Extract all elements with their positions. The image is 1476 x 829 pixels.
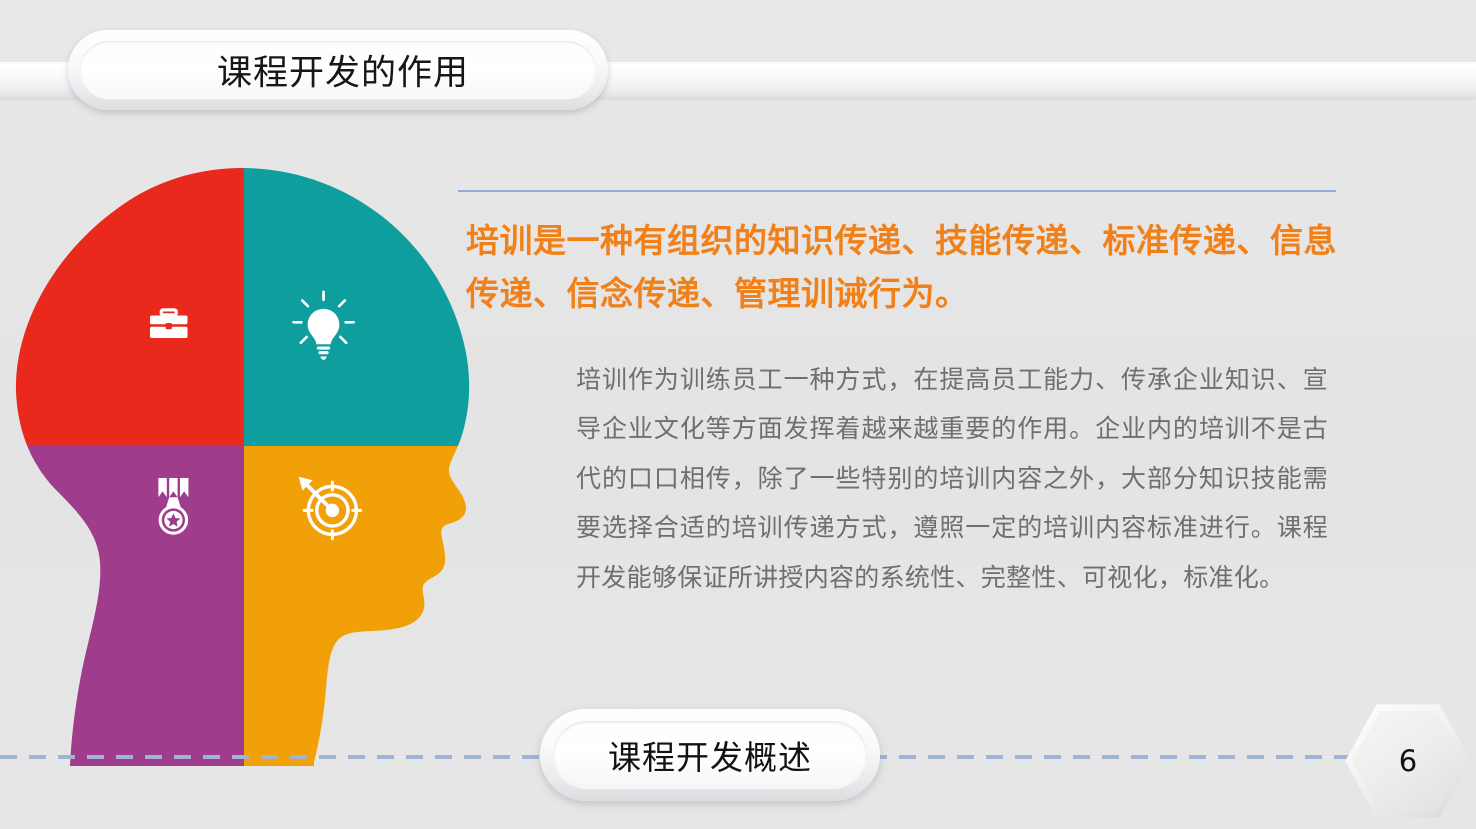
slide-canvas: 课程开发的作用	[0, 0, 1476, 829]
content-top-rule	[458, 190, 1336, 192]
content-column: 培训是一种有组织的知识传递、技能传递、标准传递、信息传递、信念传递、管理训诫行为…	[458, 190, 1338, 602]
content-headline: 培训是一种有组织的知识传递、技能传递、标准传递、信息传递、信念传递、管理训诫行为…	[466, 214, 1338, 321]
page-title: 课程开发的作用	[68, 45, 608, 96]
page-number-hexagon: 6	[1345, 702, 1471, 820]
quadrant-top-left	[14, 166, 244, 446]
quadrant-bottom-left	[14, 446, 244, 766]
page-number: 6	[1345, 702, 1471, 820]
head-infographic	[14, 166, 514, 766]
content-body: 培训作为训练员工一种方式，在提高员工能力、传承企业知识、宣导企业文化等方面发挥着…	[576, 355, 1328, 603]
slide-title-pill: 课程开发的作用	[68, 30, 608, 110]
footer-section-pill: 课程开发概述	[540, 709, 880, 801]
footer-section-label: 课程开发概述	[540, 731, 880, 779]
